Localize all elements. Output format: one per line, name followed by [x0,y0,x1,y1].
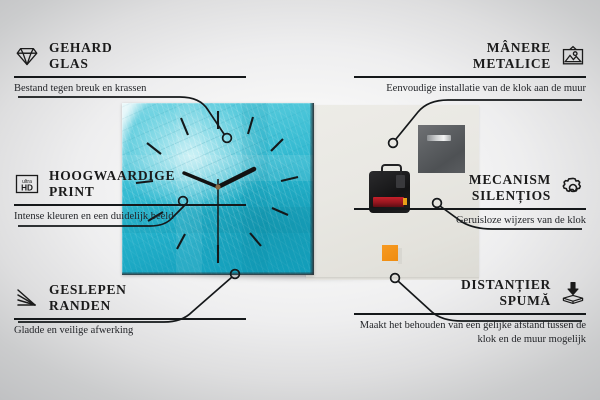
callout-title: HOOGWAARDIGEPRINT [49,168,175,201]
callout-rule [14,318,246,320]
callout-rule [14,204,246,206]
callout-mecanism-silentios[interactable]: MECANISMSILENȚIOS Geruisloze wijzers van… [354,172,586,228]
callout-gehard-glas[interactable]: GEHARDGLAS Bestand tegen breuk en krasse… [14,40,246,96]
callout-title: DISTANȚIERSPUMĂ [461,277,551,310]
callout-description: Gladde en veilige afwerking [14,324,246,338]
callout-manere-metalice[interactable]: MÂNEREMETALICE Eenvoudige installatie va… [354,40,586,96]
callout-rule [354,208,586,210]
callout-distantier-spuma[interactable]: DISTANȚIERSPUMĂ Maakt het behouden van e… [354,277,586,347]
foam-spacer [382,245,398,261]
picture-frame-icon [560,43,586,69]
callout-title: MECANISMSILENȚIOS [469,172,551,205]
infographic-canvas: GEHARDGLAS Bestand tegen breuk en krasse… [0,0,600,400]
callout-header: MECANISMSILENȚIOS [354,172,586,205]
glass-edge-bottom [122,272,314,275]
callout-rule [354,76,586,78]
callout-rule [354,313,586,315]
diamond-icon [14,43,40,69]
callout-rule [14,76,246,78]
callout-description: Intense kleuren en een duidelijk beeld [14,210,246,224]
hanger-slot [427,135,451,141]
arrow-down-pad-icon [560,280,586,306]
svg-text:HD: HD [21,184,33,193]
callout-description: Geruisloze wijzers van de klok [354,214,586,228]
callout-header: GEHARDGLAS [14,40,246,73]
callout-header: DISTANȚIERSPUMĂ [354,277,586,310]
callout-title: MÂNEREMETALICE [473,40,551,73]
callout-title: GEHARDGLAS [49,40,112,73]
glass-edge-right [310,103,314,275]
diagonal-lines-icon [14,285,40,311]
metal-hanger-plate [418,125,465,173]
callout-geslepen-randen[interactable]: GESLEPENRANDEN Gladde en veilige afwerki… [14,282,246,338]
callout-hoogwaardige-print[interactable]: ultra HD HOOGWAARDIGEPRINT Intense kleur… [14,168,246,224]
ultra-hd-icon: ultra HD [14,171,40,197]
callout-header: GESLEPENRANDEN [14,282,246,315]
callout-description: Bestand tegen breuk en krassen [14,82,246,96]
callout-title: GESLEPENRANDEN [49,282,127,315]
callout-description: Maakt het behouden van een gelijke afsta… [354,319,586,347]
gear-icon [560,175,586,201]
callout-description: Eenvoudige installatie van de klok aan d… [354,82,586,96]
callout-header: MÂNEREMETALICE [354,40,586,73]
callout-header: ultra HD HOOGWAARDIGEPRINT [14,168,246,201]
